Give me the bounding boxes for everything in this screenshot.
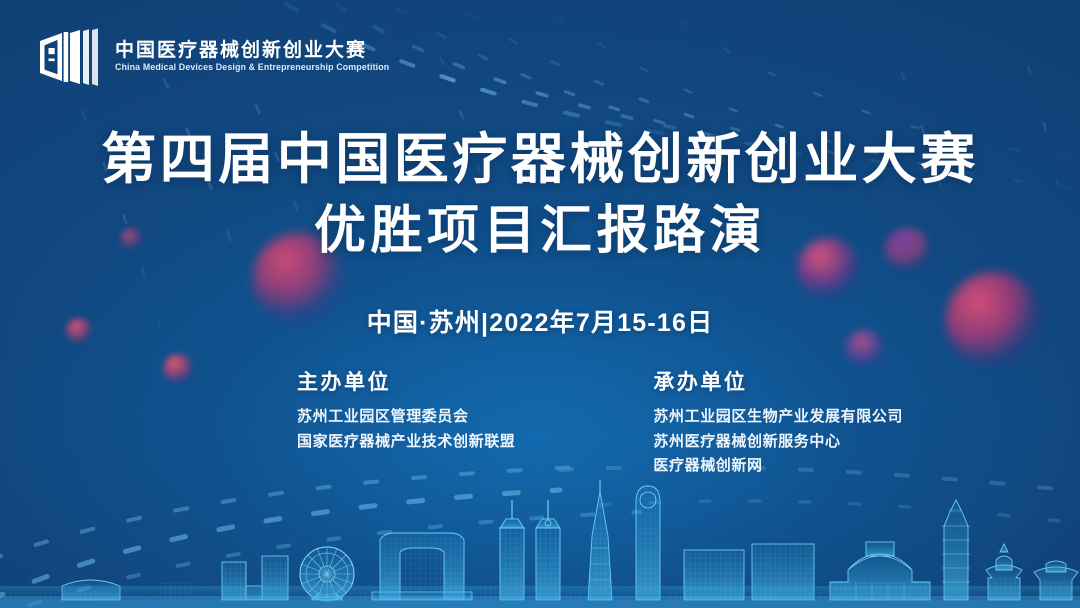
organizer-item: 苏州工业园区生物产业发展有限公司 <box>653 405 903 429</box>
organizer-item: 苏州工业园区管理委员会 <box>297 405 515 429</box>
logo-title-cn: 中国医疗器械创新创业大赛 <box>115 40 410 62</box>
suzhou-city-skyline-wireframe <box>0 478 1080 608</box>
organizer-heading: 主办单位 <box>297 370 515 396</box>
organizer-item: 医疗器械创新网 <box>653 454 903 478</box>
competition-logo: 中国医疗器械创新创业大赛 China Medical Devices Desig… <box>36 28 410 86</box>
organizer-block-coorganizer: 承办单位 苏州工业园区生物产业发展有限公司 苏州医疗器械创新服务中心 医疗器械创… <box>653 370 903 478</box>
poster-title-line1: 第四届中国医疗器械创新创业大赛 <box>0 127 1080 192</box>
skyline-ground-glow <box>0 586 1080 608</box>
open-door-window-logo-icon <box>36 28 102 86</box>
organizer-heading: 承办单位 <box>653 370 903 396</box>
conference-poster: 中国医疗器械创新创业大赛 China Medical Devices Desig… <box>0 0 1080 608</box>
organizer-block-host: 主办单位 苏州工业园区管理委员会 国家医疗器械产业技术创新联盟 <box>297 370 515 478</box>
logo-title-en: China Medical Devices Design & Entrepren… <box>115 63 389 74</box>
organizer-blocks: 主办单位 苏州工业园区管理委员会 国家医疗器械产业技术创新联盟 承办单位 苏州工… <box>297 370 903 478</box>
poster-title-block: 第四届中国医疗器械创新创业大赛 优胜项目汇报路演 <box>0 127 1080 263</box>
event-date-location: 中国·苏州|2022年7月15-16日 <box>0 303 1080 339</box>
organizer-item: 苏州医疗器械创新服务中心 <box>653 430 903 454</box>
organizer-item: 国家医疗器械产业技术创新联盟 <box>297 430 515 454</box>
poster-title-line2: 优胜项目汇报路演 <box>0 200 1080 263</box>
